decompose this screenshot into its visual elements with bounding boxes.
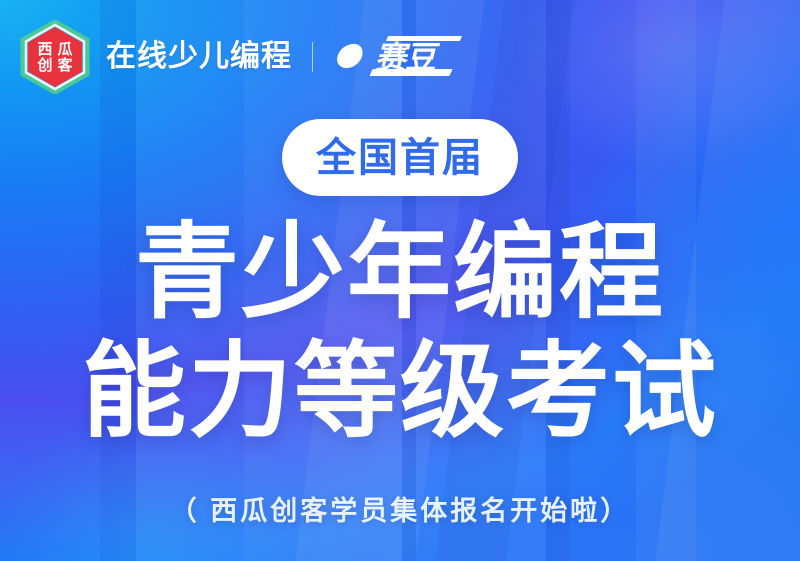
page-title: 青少年编程 能力等级考试 — [0, 214, 800, 451]
partner-name: 赛豆 — [375, 42, 435, 73]
logo-char-3: 创 — [37, 58, 52, 73]
badge-label: 全国首届 — [316, 138, 484, 178]
background-glow-top-right — [448, 0, 800, 224]
header-divider — [312, 42, 313, 72]
brand-tagline: 在线少儿编程 — [106, 42, 292, 72]
logo-char-1: 西 — [37, 42, 52, 57]
logo-characters: 西 瓜 创 客 — [18, 20, 92, 94]
partner-logo[interactable]: 赛豆 — [329, 37, 435, 77]
subtitle: （ 西瓜创客学员集体报名开始啦） — [0, 498, 800, 525]
logo-char-2: 瓜 — [57, 42, 72, 57]
swoosh-top-decoration — [386, 36, 462, 41]
brand-logo[interactable]: 西 瓜 创 客 — [18, 20, 92, 94]
banner-header: 西 瓜 创 客 在线少儿编程 赛豆 — [18, 20, 435, 94]
headline-line-2: 能力等级考试 — [0, 333, 800, 452]
status-badge: 全国首届 — [282, 119, 518, 196]
swoosh-bottom-decoration — [369, 69, 452, 76]
promo-banner: 西 瓜 创 客 在线少儿编程 赛豆 全国首届 青少年编程 能力等级考试 （ 西瓜… — [0, 0, 800, 561]
logo-char-4: 客 — [57, 58, 72, 73]
bean-icon — [329, 37, 369, 77]
headline-line-1: 青少年编程 — [0, 214, 800, 333]
